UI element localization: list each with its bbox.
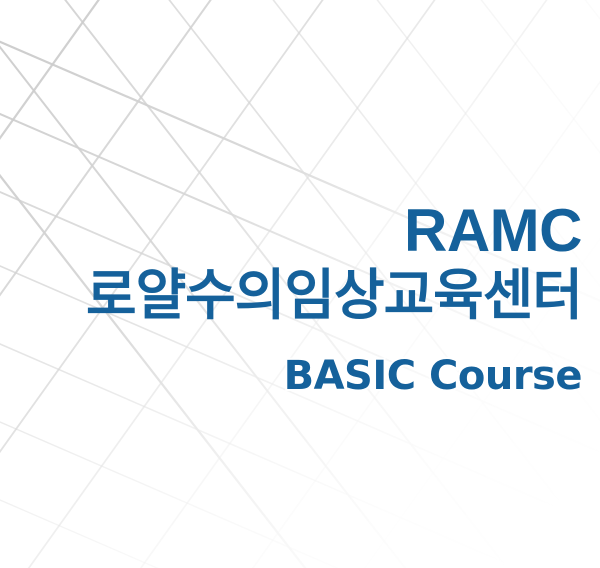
course-level-label: BASIC Course bbox=[284, 352, 582, 400]
poster-canvas: RAMC 로얄수의임상교육센터 BASIC Course bbox=[0, 0, 600, 568]
title-block: RAMC 로얄수의임상교육센터 BASIC Course bbox=[18, 198, 582, 400]
brand-acronym: RAMC bbox=[18, 198, 582, 264]
brand-name-korean: 로얄수의임상교육센터 bbox=[18, 262, 582, 328]
mesh-line bbox=[0, 448, 600, 568]
